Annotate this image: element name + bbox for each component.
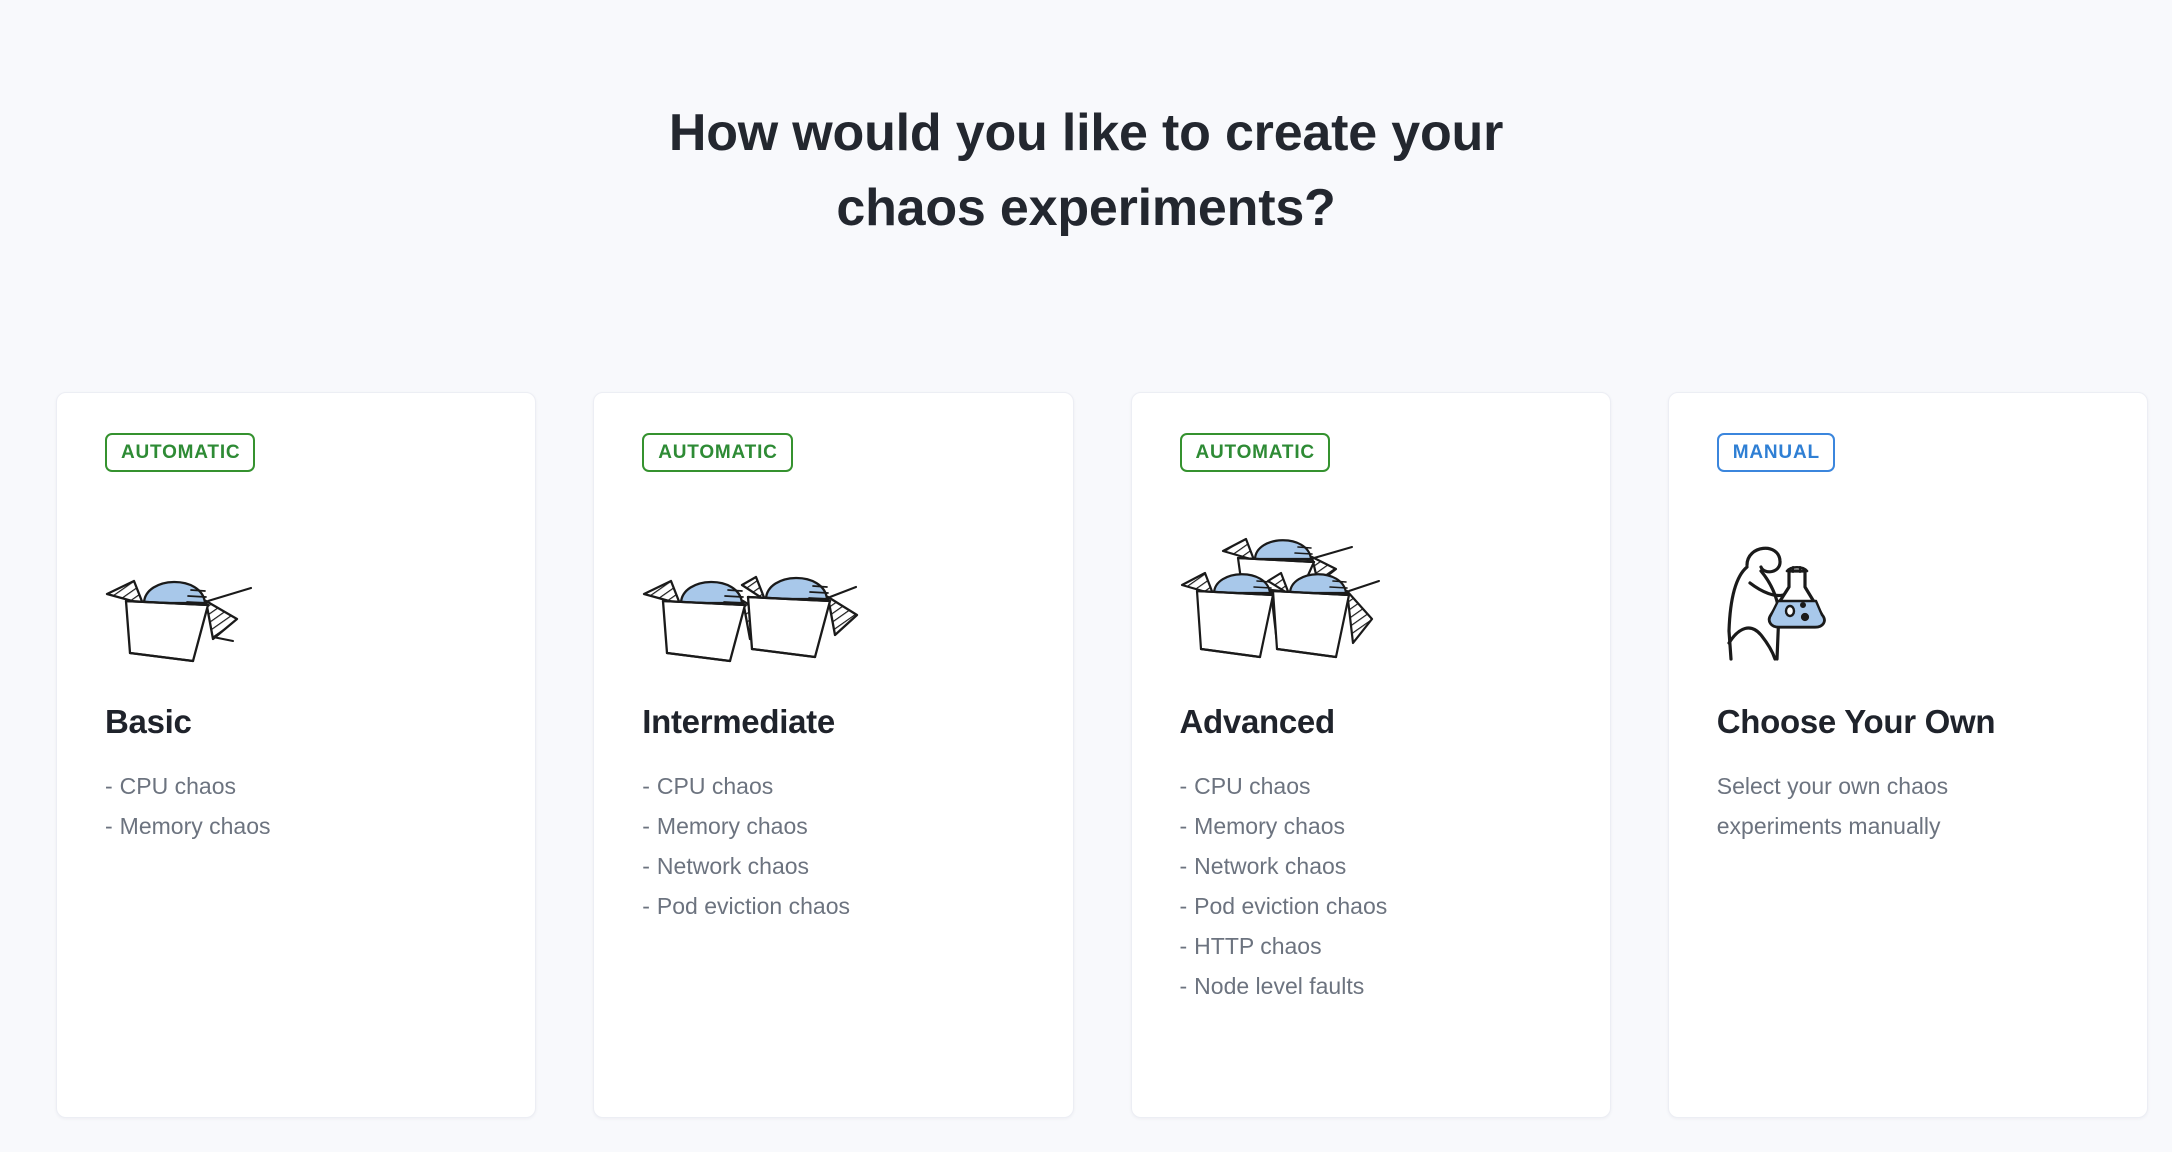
list-item: -Memory chaos bbox=[1180, 806, 1562, 846]
scientist-flask-icon bbox=[1717, 516, 2099, 666]
experiment-mode-card-basic[interactable]: AUTOMATIC bbox=[56, 392, 536, 1118]
list-item-label: Memory chaos bbox=[1194, 813, 1345, 839]
list-item-label: Pod eviction chaos bbox=[657, 893, 850, 919]
list-item: -Pod eviction chaos bbox=[1180, 886, 1562, 926]
experiment-mode-card-choose-your-own[interactable]: MANUAL bbox=[1668, 392, 2148, 1118]
list-bullet: - bbox=[1180, 853, 1188, 879]
list-bullet: - bbox=[105, 773, 113, 799]
status-badge: AUTOMATIC bbox=[642, 433, 792, 472]
experiment-mode-card-advanced[interactable]: AUTOMATIC bbox=[1131, 392, 1611, 1118]
list-bullet: - bbox=[642, 773, 650, 799]
list-bullet: - bbox=[1180, 973, 1188, 999]
page-title-line-2: chaos experiments? bbox=[0, 171, 2172, 246]
list-item-label: Pod eviction chaos bbox=[1194, 893, 1387, 919]
page-title: How would you like to create your chaos … bbox=[0, 96, 2172, 246]
one-box-chaos-icon bbox=[105, 516, 487, 666]
list-item: -CPU chaos bbox=[1180, 766, 1562, 806]
list-item: -Memory chaos bbox=[105, 806, 487, 846]
create-experiment-page: How would you like to create your chaos … bbox=[0, 0, 2172, 1152]
chaos-type-list: -CPU chaos -Memory chaos bbox=[105, 766, 487, 846]
list-item: -Network chaos bbox=[1180, 846, 1562, 886]
list-item: -CPU chaos bbox=[105, 766, 487, 806]
list-bullet: - bbox=[642, 813, 650, 839]
list-item: -Memory chaos bbox=[642, 806, 1024, 846]
list-bullet: - bbox=[642, 893, 650, 919]
list-bullet: - bbox=[1180, 893, 1188, 919]
list-item-label: CPU chaos bbox=[1194, 773, 1310, 799]
three-box-chaos-icon bbox=[1180, 516, 1562, 666]
list-item: -Node level faults bbox=[1180, 966, 1562, 1006]
list-item-label: Memory chaos bbox=[120, 813, 271, 839]
experiment-mode-card-intermediate[interactable]: AUTOMATIC bbox=[593, 392, 1073, 1118]
status-badge: AUTOMATIC bbox=[1180, 433, 1330, 472]
list-item-label: Memory chaos bbox=[657, 813, 808, 839]
page-title-line-1: How would you like to create your bbox=[0, 96, 2172, 171]
list-bullet: - bbox=[1180, 773, 1188, 799]
list-item: -Network chaos bbox=[642, 846, 1024, 886]
card-title: Basic bbox=[105, 704, 487, 740]
list-item: -Pod eviction chaos bbox=[642, 886, 1024, 926]
status-badge: AUTOMATIC bbox=[105, 433, 255, 472]
list-item: -HTTP chaos bbox=[1180, 926, 1562, 966]
card-title: Choose Your Own bbox=[1717, 704, 2099, 740]
card-title: Advanced bbox=[1180, 704, 1562, 740]
list-item: -CPU chaos bbox=[642, 766, 1024, 806]
two-box-chaos-icon bbox=[642, 516, 1024, 666]
chaos-type-list: -CPU chaos -Memory chaos -Network chaos … bbox=[642, 766, 1024, 926]
list-item-label: CPU chaos bbox=[120, 773, 236, 799]
card-description: Select your own chaos experiments manual… bbox=[1717, 766, 2047, 846]
list-item-label: HTTP chaos bbox=[1194, 933, 1321, 959]
list-item-label: CPU chaos bbox=[657, 773, 773, 799]
list-item-label: Network chaos bbox=[1194, 853, 1346, 879]
list-item-label: Network chaos bbox=[657, 853, 809, 879]
list-bullet: - bbox=[642, 853, 650, 879]
list-bullet: - bbox=[1180, 933, 1188, 959]
card-title: Intermediate bbox=[642, 704, 1024, 740]
experiment-mode-card-grid: AUTOMATIC bbox=[56, 392, 2148, 1118]
list-bullet: - bbox=[1180, 813, 1188, 839]
status-badge: MANUAL bbox=[1717, 433, 1835, 472]
chaos-type-list: -CPU chaos -Memory chaos -Network chaos … bbox=[1180, 766, 1562, 1006]
list-bullet: - bbox=[105, 813, 113, 839]
list-item-label: Node level faults bbox=[1194, 973, 1364, 999]
